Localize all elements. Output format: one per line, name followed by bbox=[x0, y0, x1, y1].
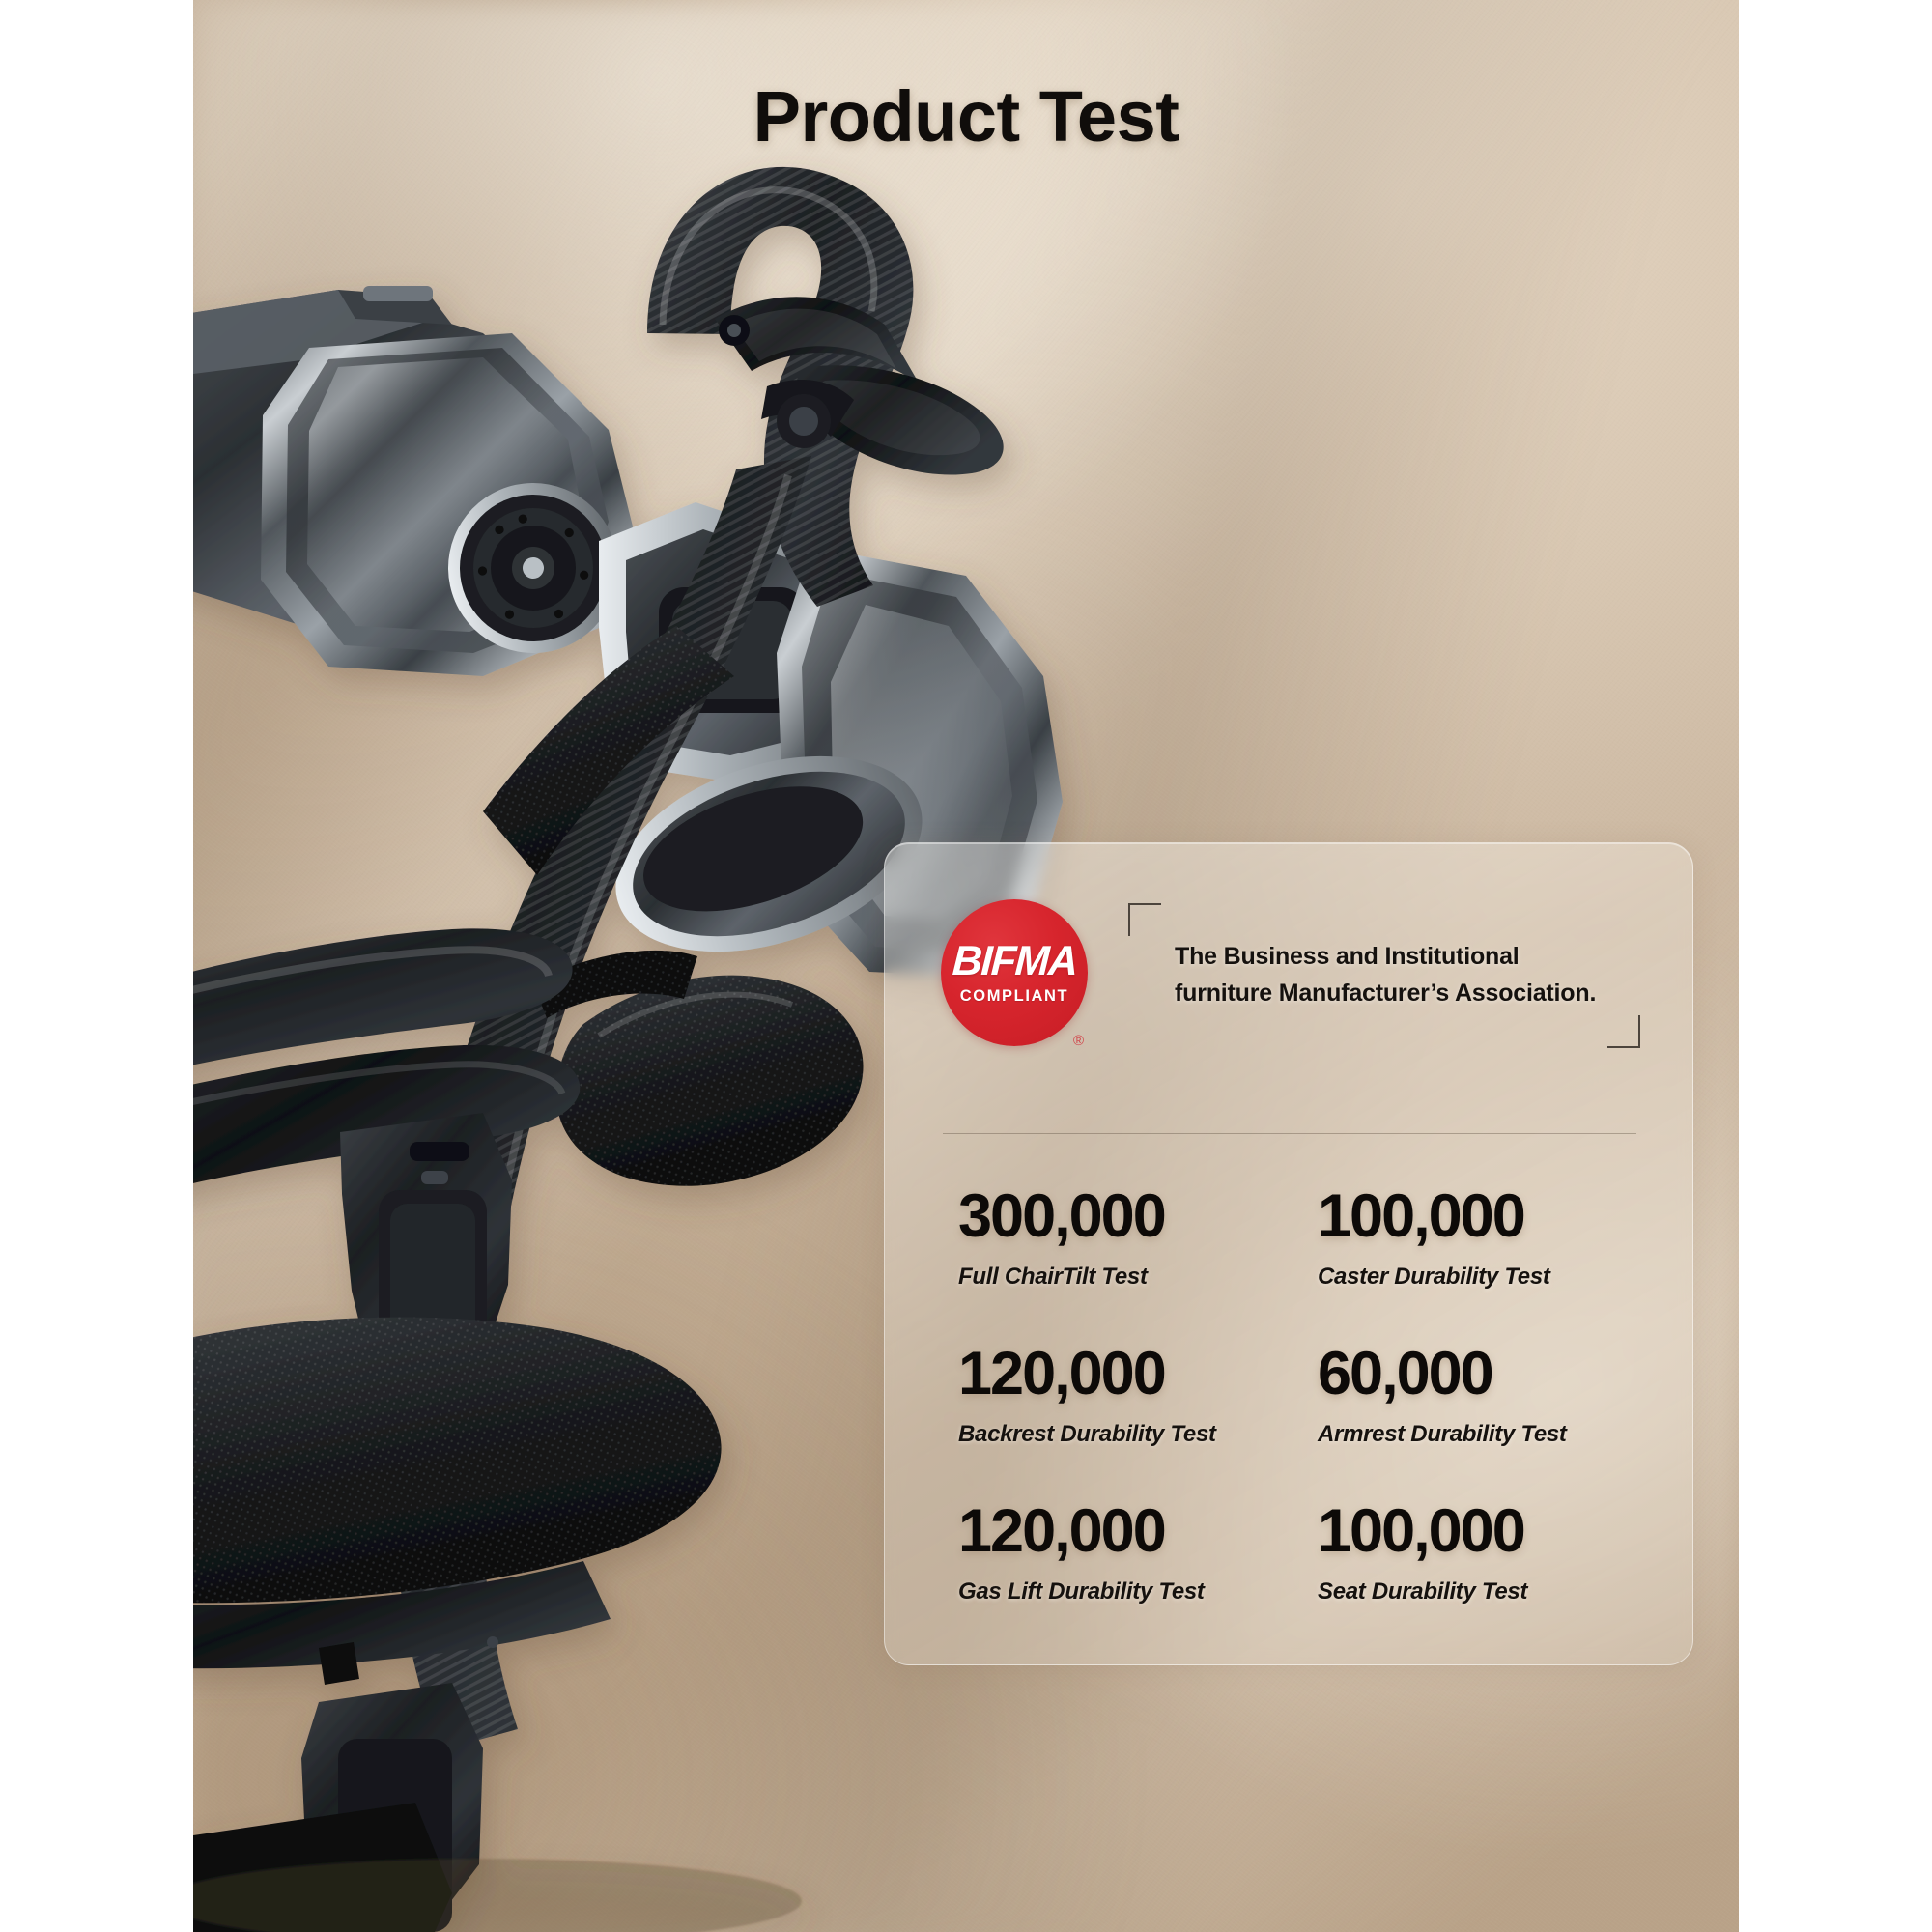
bifma-logo-main-text: BIFMA bbox=[952, 941, 1078, 982]
stat-item: 100,000 Seat Durability Test bbox=[1302, 1501, 1638, 1659]
stat-value: 120,000 bbox=[958, 1344, 1302, 1405]
bifma-compliant-logo: BIFMA COMPLIANT ® bbox=[941, 899, 1088, 1046]
certification-badge-row: BIFMA COMPLIANT ® The Business and Insti… bbox=[885, 899, 1692, 1073]
stat-value: 120,000 bbox=[958, 1501, 1302, 1562]
description-bracket-frame: The Business and Institutional furniture… bbox=[1128, 903, 1640, 1048]
stat-label: Seat Durability Test bbox=[1318, 1578, 1638, 1605]
stat-label: Gas Lift Durability Test bbox=[958, 1578, 1302, 1605]
stat-item: 100,000 Caster Durability Test bbox=[1302, 1186, 1638, 1344]
product-test-panel: BIFMA COMPLIANT ® The Business and Insti… bbox=[884, 842, 1693, 1665]
stat-label: Full ChairTilt Test bbox=[958, 1264, 1302, 1291]
corner-bracket-bottom-right-icon bbox=[1607, 1015, 1640, 1048]
panel-divider bbox=[943, 1133, 1636, 1134]
infographic-canvas: Product Test BIFMA COMPLIANT ® The Busin… bbox=[0, 0, 1932, 1932]
stat-label: Backrest Durability Test bbox=[958, 1421, 1302, 1448]
bifma-logo-sub-text: COMPLIANT bbox=[960, 988, 1068, 1005]
stat-item: 300,000 Full ChairTilt Test bbox=[943, 1186, 1302, 1344]
product-photo: Product Test BIFMA COMPLIANT ® The Busin… bbox=[193, 0, 1739, 1932]
stat-item: 120,000 Backrest Durability Test bbox=[943, 1344, 1302, 1501]
stat-value: 60,000 bbox=[1318, 1344, 1638, 1405]
stat-label: Armrest Durability Test bbox=[1318, 1421, 1638, 1448]
stat-item: 120,000 Gas Lift Durability Test bbox=[943, 1501, 1302, 1659]
stat-item: 60,000 Armrest Durability Test bbox=[1302, 1344, 1638, 1501]
corner-bracket-top-left-icon bbox=[1128, 903, 1161, 936]
stat-value: 100,000 bbox=[1318, 1186, 1638, 1247]
registered-trademark-icon: ® bbox=[1073, 1034, 1084, 1048]
stat-value: 300,000 bbox=[958, 1186, 1302, 1247]
durability-test-stats-grid: 300,000 Full ChairTilt Test 100,000 Cast… bbox=[943, 1186, 1638, 1659]
page-title: Product Test bbox=[193, 75, 1739, 157]
certification-description: The Business and Institutional furniture… bbox=[1175, 938, 1619, 1011]
stat-value: 100,000 bbox=[1318, 1501, 1638, 1562]
stat-label: Caster Durability Test bbox=[1318, 1264, 1638, 1291]
